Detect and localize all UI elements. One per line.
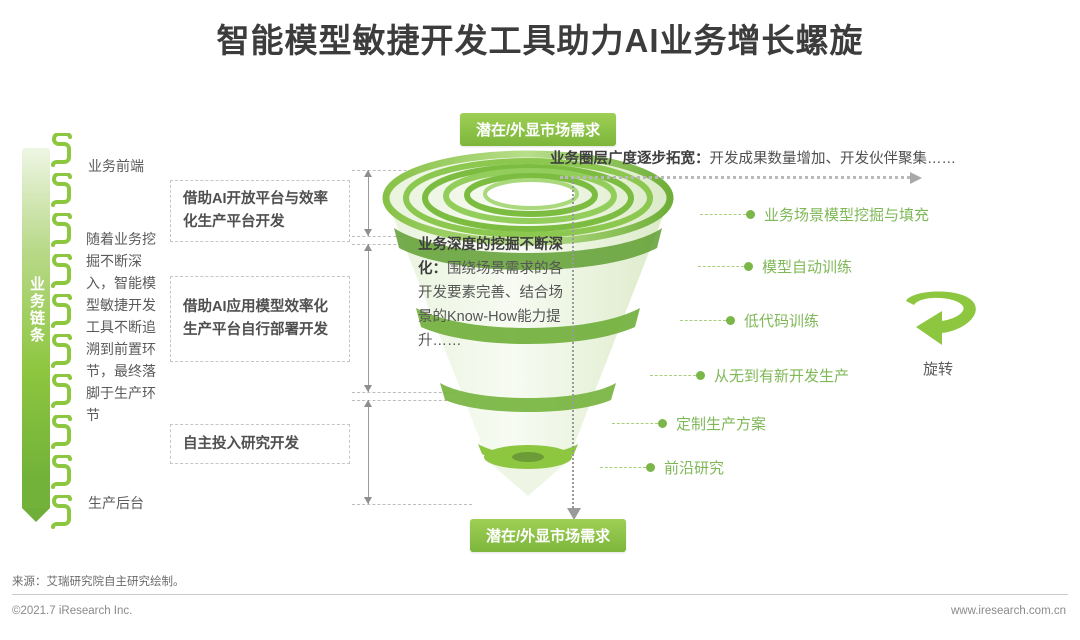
footer-divider xyxy=(12,594,1068,595)
breadth-arrow-icon xyxy=(560,176,910,179)
stage-box-1[interactable]: 借助AI开放平台与效率化生产平台开发 xyxy=(170,180,350,242)
callout-dot-icon xyxy=(646,463,655,472)
rotate-arrow-icon xyxy=(890,283,986,347)
website-url: www.iresearch.com.cn xyxy=(951,605,1066,617)
chain-link-icon xyxy=(50,133,76,173)
callout-leader-line xyxy=(612,423,658,424)
callout-label: 业务场景模型挖掘与填充 xyxy=(764,204,929,225)
callout-dot-icon xyxy=(746,210,755,219)
dimension-tick xyxy=(352,504,472,505)
left-description-text: 随着业务挖掘不断深入，智能模型敏捷开发工具不断追溯到前置环节，最终落脚于生产环节 xyxy=(86,228,164,426)
dimension-arrow-3 xyxy=(368,400,369,504)
chain-link-icon xyxy=(50,254,76,294)
headline-breadth-rest: 开发成果数量增加、开发伙伴聚集…… xyxy=(710,151,957,167)
rotate-arrow-svg xyxy=(890,283,986,347)
callout-leader-line xyxy=(650,375,696,376)
callout-label: 模型自动训练 xyxy=(762,256,852,277)
callout-leader-line xyxy=(698,266,744,267)
chain-link-icon xyxy=(50,213,76,253)
chain-link-icon xyxy=(50,173,76,213)
page-title: 智能模型敏捷开发工具助力AI业务增长螺旋 xyxy=(0,14,1080,62)
badge-market-demand-bottom[interactable]: 潜在/外显市场需求 xyxy=(470,519,626,552)
callout-label: 定制生产方案 xyxy=(676,413,766,434)
label-production-backend: 生产后台 xyxy=(88,493,144,513)
stage-box-2[interactable]: 借助AI应用模型效率化生产平台自行部署开发 xyxy=(170,276,350,362)
callout-item[interactable]: 模型自动训练 xyxy=(698,256,852,277)
chain-link-icon xyxy=(50,374,76,414)
chain-link-icon xyxy=(50,455,76,495)
callout-item[interactable]: 从无到有新开发生产 xyxy=(650,365,849,386)
callout-label: 前沿研究 xyxy=(664,457,724,478)
callout-leader-line xyxy=(680,320,726,321)
stage-box-3-label: 自主投入研究开发 xyxy=(183,433,299,456)
dimension-arrow-1 xyxy=(368,170,369,236)
label-business-frontend: 业务前端 xyxy=(88,156,144,176)
funnel-depth-text: 业务深度的挖掘不断深化：围绕场景需求的各开发要素完善、结合场景的Know-How… xyxy=(418,233,570,353)
callout-dot-icon xyxy=(744,262,753,271)
callout-dot-icon xyxy=(658,419,667,428)
callout-item[interactable]: 低代码训练 xyxy=(680,310,819,331)
funnel-center-axis xyxy=(572,178,574,508)
badge-market-demand-top[interactable]: 潜在/外显市场需求 xyxy=(460,113,616,146)
chain-link-icon xyxy=(50,495,76,535)
stage-box-2-label: 借助AI应用模型效率化生产平台自行部署开发 xyxy=(183,296,337,342)
headline-breadth-strong: 业务圈层广度逐步拓宽： xyxy=(550,151,710,167)
callout-dot-icon xyxy=(726,316,735,325)
infographic-page: 智能模型敏捷开发工具助力AI业务增长螺旋 业务链条 业务前端 随着业务挖掘不断深… xyxy=(0,0,1080,640)
dimension-arrow-2 xyxy=(368,244,369,392)
source-note: 来源：艾瑞研究院自主研究绘制。 xyxy=(12,573,185,589)
callout-dot-icon xyxy=(696,371,705,380)
chain-links-graphic xyxy=(46,140,80,528)
rotate-label: 旋转 xyxy=(890,358,986,379)
stage-box-1-label: 借助AI开放平台与效率化生产平台开发 xyxy=(183,188,337,234)
headline-breadth: 业务圈层广度逐步拓宽：开发成果数量增加、开发伙伴聚集…… xyxy=(550,147,956,168)
callout-item[interactable]: 业务场景模型挖掘与填充 xyxy=(700,204,929,225)
callout-label: 从无到有新开发生产 xyxy=(714,365,849,386)
chain-link-icon xyxy=(50,294,76,334)
callout-leader-line xyxy=(700,214,746,215)
copyright-text: ©2021.7 iResearch Inc. xyxy=(12,605,132,617)
callout-label: 低代码训练 xyxy=(744,310,819,331)
callout-item[interactable]: 定制生产方案 xyxy=(612,413,766,434)
stage-box-3[interactable]: 自主投入研究开发 xyxy=(170,424,350,464)
chain-link-icon xyxy=(50,415,76,455)
callout-item[interactable]: 前沿研究 xyxy=(600,457,724,478)
callout-leader-line xyxy=(600,467,646,468)
chain-link-icon xyxy=(50,334,76,374)
